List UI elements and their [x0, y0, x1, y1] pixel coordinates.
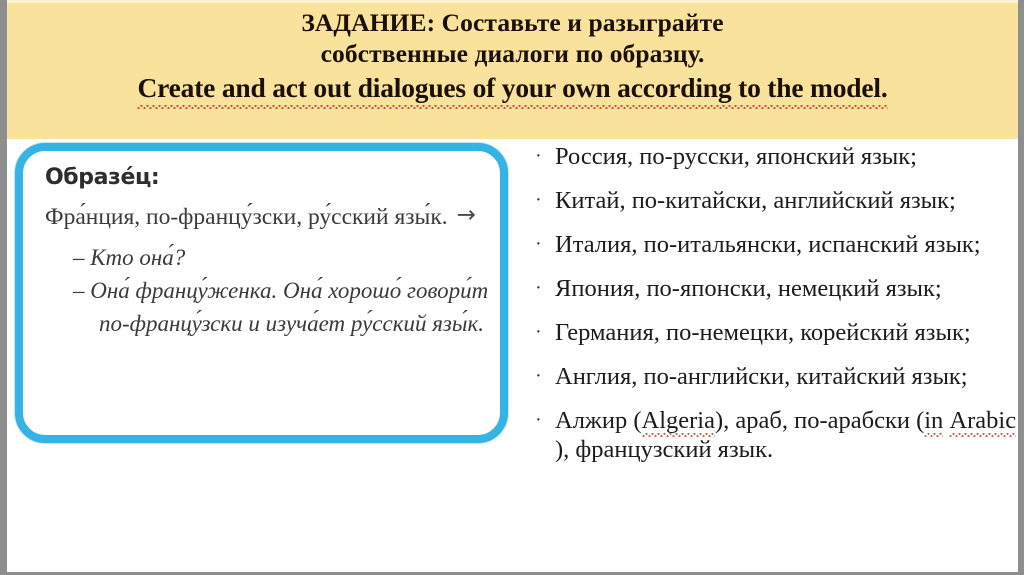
list-item: · Италия, по-итальянски, испанский язык; — [531, 230, 1023, 259]
dialogue-line: – Кто она́? — [73, 241, 490, 274]
bullet-icon: · — [535, 406, 542, 435]
header-line-russian-2: собственные диалоги по образцу. — [7, 38, 1018, 70]
list-item-label: Россия, по-русски, японский язык; — [555, 143, 917, 170]
right-arrow-icon: → — [448, 202, 476, 228]
header-line-russian-1: ЗАДАНИЕ: Составьте и разыграйте — [7, 7, 1018, 38]
example-box-content: Образе́ц: Фра́нция, по-францу́зски, ру́с… — [45, 165, 490, 340]
list-item-label: Алжир (Algeria), араб, по-арабски (in Ar… — [555, 407, 1016, 463]
header-text-block: ЗАДАНИЕ: Составьте и разыграйте собствен… — [7, 7, 1018, 108]
bullet-icon: · — [535, 318, 542, 347]
misspelled-word-arabic: Arabic — [949, 406, 1016, 435]
list-item-label: Германия, по-немецки, корейский язык; — [555, 319, 971, 346]
list-item: · Германия, по-немецки, корейский язык; — [531, 318, 1023, 347]
header-line-english: Create and act out dialogues of your own… — [7, 70, 1018, 108]
list-item-label: Италия, по-итальянски, испанский язык; — [555, 231, 981, 258]
header-banner: ЗАДАНИЕ: Составьте и разыграйте собствен… — [7, 0, 1018, 139]
bullet-icon: · — [535, 274, 542, 303]
example-label: Образе́ц: — [45, 165, 490, 190]
bullet-icon: · — [535, 186, 542, 215]
bullet-icon: · — [535, 230, 542, 259]
list-item-label: Китай, по-китайски, английский язык; — [555, 187, 956, 214]
list-item: · Китай, по-китайски, английский язык; — [531, 186, 1023, 215]
dialogue-line: – Она́ францу́женка. Она́ хорошо́ говори… — [73, 274, 490, 307]
example-box: Образе́ц: Фра́нция, по-францу́зски, ру́с… — [15, 143, 508, 443]
example-model-line: Фра́нция, по-францу́зски, ру́сский язы́к… — [45, 202, 490, 231]
list-item: · Россия, по-русски, японский язык; — [531, 142, 1023, 171]
algeria-text-part2: ), араб, по-арабски ( — [715, 407, 924, 434]
list-item-label: Англия, по-английски, китайский язык; — [555, 363, 968, 390]
example-dialogue: – Кто она́? – Она́ францу́женка. Она́ хо… — [73, 241, 490, 340]
list-item: · Япония, по-японски, немецкий язык; — [531, 274, 1023, 303]
header-english-text: Create and act out dialogues of your own… — [137, 70, 887, 108]
bullet-icon: · — [535, 142, 542, 171]
task-list: · Россия, по-русски, японский язык; · Ки… — [531, 142, 1023, 479]
example-model-text: Фра́нция, по-францу́зски, ру́сский язы́к… — [45, 204, 448, 230]
algeria-text-part1: Алжир ( — [555, 407, 642, 434]
algeria-text-part4: ), французский язык. — [555, 436, 773, 463]
misspelled-word-in: in — [924, 406, 943, 435]
dialogue-line: по-францу́зски и изуча́ет ру́сский язы́к… — [99, 307, 490, 340]
list-item-algeria: · Алжир (Algeria), араб, по-арабски (in … — [531, 406, 1023, 464]
slide-canvas: ЗАДАНИЕ: Составьте и разыграйте собствен… — [0, 0, 1024, 575]
bullet-icon: · — [535, 362, 542, 391]
misspelled-word-algeria: Algeria — [642, 406, 715, 435]
list-item: · Англия, по-английски, китайский язык; — [531, 362, 1023, 391]
list-item-label: Япония, по-японски, немецкий язык; — [555, 275, 942, 302]
